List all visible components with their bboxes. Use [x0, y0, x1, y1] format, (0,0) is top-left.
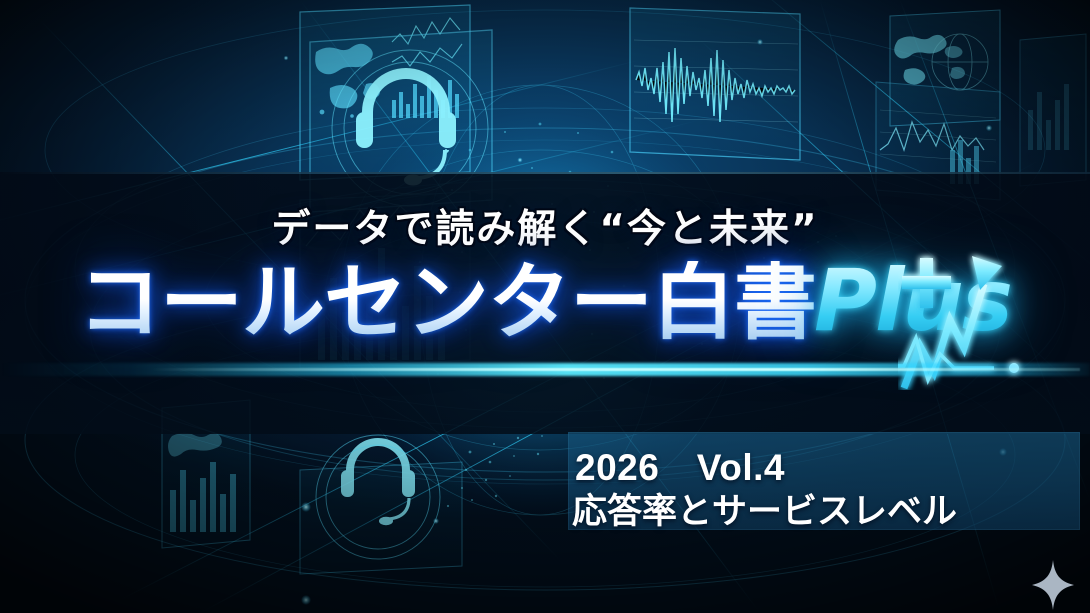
- hero-title-main: コールセンター白書: [78, 261, 816, 344]
- title-slide: データで読み解く“今と未来” コールセンター白書 Plus: [0, 0, 1090, 613]
- sparkle-icon: [1032, 560, 1074, 610]
- title-band-top-edge: [0, 172, 1090, 174]
- title-underline-core: [150, 368, 1080, 371]
- hero-title-accent: Plus: [814, 258, 1011, 344]
- hero-title: コールセンター白書 Plus: [78, 258, 1011, 344]
- hero-subtitle: データで読み解く“今と未来”: [0, 198, 1090, 254]
- info-topic: 応答率とサービスレベル: [572, 483, 957, 534]
